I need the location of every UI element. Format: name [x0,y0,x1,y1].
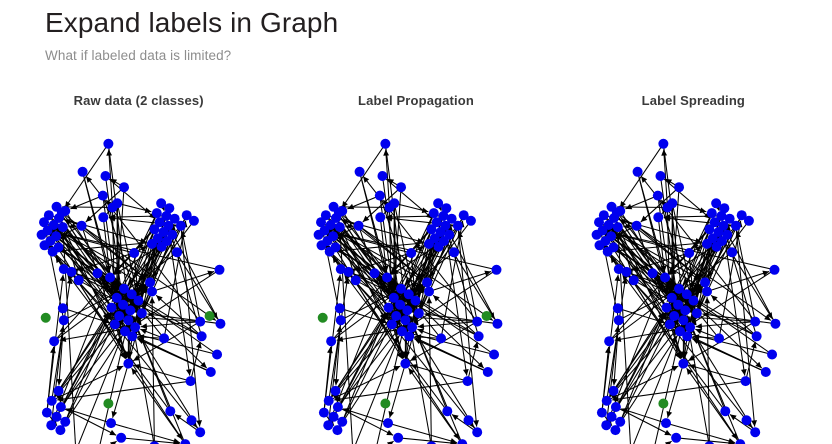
graph-canvas-label-propagation [277,117,554,444]
slide-header: Expand labels in Graph What if labeled d… [45,6,785,64]
network-graph-label-propagation [277,117,554,444]
panel-raw-data: Raw data (2 classes) [0,88,277,444]
page-subtitle: What if labeled data is limited? [45,47,785,64]
panel-title-raw-data: Raw data (2 classes) [74,93,204,108]
network-graph-label-spreading [555,117,832,444]
graph-panels-row: Raw data (2 classes) Label Propagation L… [0,88,832,444]
panel-title-label-propagation: Label Propagation [358,93,474,108]
panel-title-label-spreading: Label Spreading [642,93,745,108]
graph-canvas-label-spreading [555,117,832,444]
page-title: Expand labels in Graph [45,6,785,40]
graph-canvas-raw-data [0,117,277,444]
panel-label-spreading: Label Spreading [555,88,832,444]
panel-label-propagation: Label Propagation [277,88,554,444]
slide-root: Expand labels in Graph What if labeled d… [0,0,832,444]
network-graph-raw-data [0,117,277,444]
